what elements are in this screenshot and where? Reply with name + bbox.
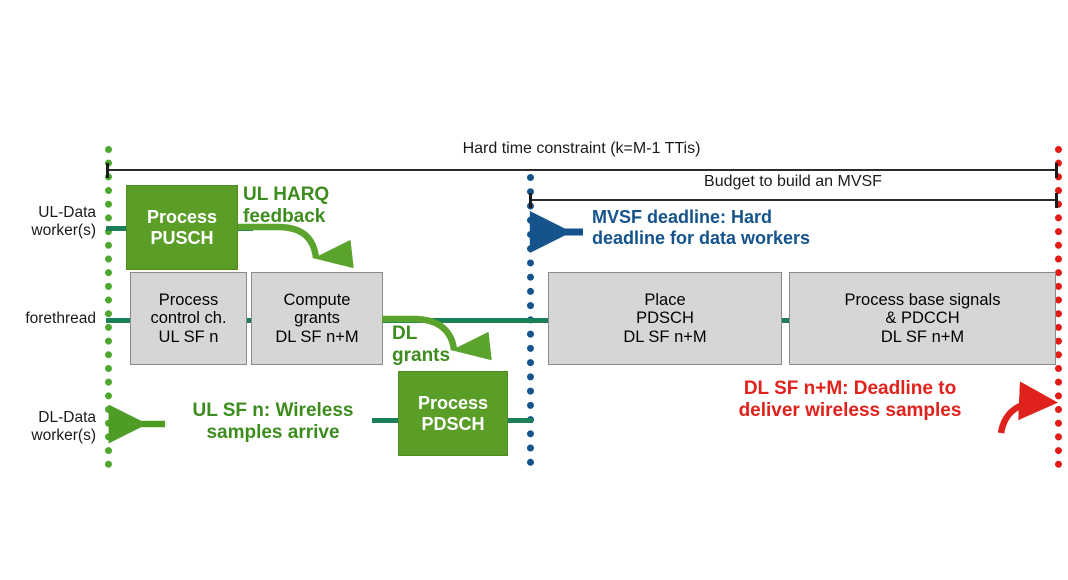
task-line-1: Process (147, 207, 217, 227)
task-line-1: Process (159, 291, 219, 310)
task-line-3: DL SF n+M (881, 328, 964, 347)
row-label-dl-data-worker: DL-Data worker(s) (0, 409, 96, 446)
hard-time-constraint-label: Hard time constraint (k=M-1 TTis) (105, 140, 1058, 158)
mvsf-deadline-arrow (527, 212, 597, 252)
task-line-2: PDSCH (421, 414, 484, 434)
task-line-3: DL SF n+M (275, 328, 358, 347)
task-line-2: PDSCH (636, 309, 694, 328)
task-line-3: DL SF n+M (623, 328, 706, 347)
task-box-process-base-signals[interactable]: Process base signals & PDCCH DL SF n+M (789, 272, 1056, 365)
task-line-1: Process base signals (845, 291, 1001, 310)
annotation-deliver-wireless-samples: DL SF n+M: Deadline to deliver wireless … (690, 378, 1010, 422)
mvsf-budget-cap-right (1055, 193, 1058, 208)
task-line-2: PUSCH (150, 228, 213, 248)
row-label-forethread: forethread (0, 310, 96, 328)
task-box-process-control-ch[interactable]: Process control ch. UL SF n (130, 272, 247, 365)
task-line-3: UL SF n (159, 328, 219, 347)
annotation-wireless-samples-arrive: UL SF n: Wireless samples arrive (158, 400, 388, 444)
task-box-place-pdsch[interactable]: Place PDSCH DL SF n+M (548, 272, 782, 365)
annotation-dl-grants: DL grants (392, 323, 472, 367)
task-box-process-pusch[interactable]: Process PUSCH (126, 185, 238, 270)
hard-time-constraint-cap-left (106, 163, 109, 178)
mvsf-budget-cap-left (529, 193, 532, 208)
timing-diagram: Hard time constraint (k=M-1 TTis) Budget… (0, 0, 1068, 580)
mvsf-budget-label: Budget to build an MVSF (528, 173, 1058, 191)
task-line-2: & PDCCH (885, 309, 959, 328)
annotation-ul-harq-feedback: UL HARQ feedback (243, 184, 393, 228)
hard-time-constraint-bracket (106, 169, 1057, 171)
task-line-2: control ch. (150, 309, 226, 328)
task-line-1: Place (644, 291, 685, 310)
mvsf-budget-bracket (529, 199, 1057, 201)
annotation-mvsf-deadline: MVSF deadline: Hard deadline for data wo… (592, 207, 907, 249)
row-label-ul-data-worker: UL-Data worker(s) (0, 204, 96, 241)
